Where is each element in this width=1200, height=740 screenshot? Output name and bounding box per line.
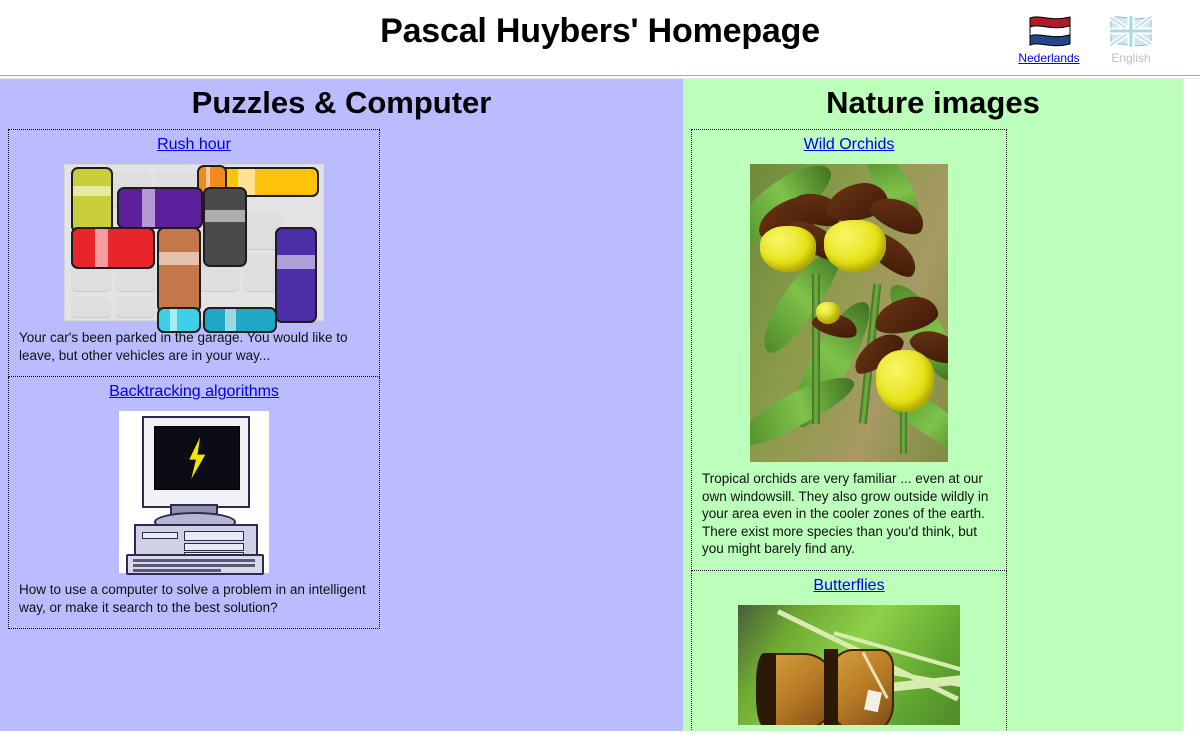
column-gutter (1183, 79, 1200, 731)
entry-backtracking-algorithms: Backtracking algorithms (9, 377, 380, 629)
computer-lightning-image (119, 411, 269, 573)
link-rush-hour[interactable]: Rush hour (157, 136, 231, 154)
uk-flag-icon (1108, 14, 1154, 47)
lightning-bolt-icon (184, 437, 210, 479)
column-nature-images: Nature images Wild Orchids (683, 79, 1183, 731)
yellow-ladys-slipper-orchid-photo (750, 164, 948, 462)
screen-shape (154, 426, 240, 490)
dutch-flag-icon (1026, 14, 1072, 47)
butterfly-on-leaf-photo (738, 605, 960, 725)
keyboard-shape (126, 554, 264, 575)
entry-butterflies: Butterflies (692, 570, 1007, 731)
column-title-left: Puzzles & Computer (0, 79, 683, 129)
link-backtracking-algorithms[interactable]: Backtracking algorithms (109, 383, 279, 401)
monitor-shape (142, 416, 250, 508)
link-wild-orchids[interactable]: Wild Orchids (804, 136, 895, 154)
description-backtracking-algorithms: How to use a computer to solve a problem… (19, 581, 369, 616)
description-rush-hour: Your car's been parked in the garage. Yo… (19, 329, 369, 364)
column-title-right: Nature images (683, 79, 1183, 129)
column-puzzles-computer: Puzzles & Computer Rush hour (0, 79, 683, 731)
entry-wild-orchids: Wild Orchids (692, 130, 1007, 571)
backtracking-thumbnail[interactable] (9, 411, 379, 573)
language-link-english[interactable]: English (1100, 14, 1162, 67)
link-butterflies[interactable]: Butterflies (813, 577, 884, 595)
language-switcher: Nederlands English (1018, 14, 1162, 67)
rush-hour-thumbnail[interactable] (9, 164, 379, 321)
butterflies-thumbnail[interactable] (692, 605, 1006, 725)
wild-orchids-thumbnail[interactable] (692, 164, 1006, 462)
description-wild-orchids: Tropical orchids are very familiar ... e… (702, 470, 996, 558)
page-header: Pascal Huybers' Homepage Nederlands Engl… (0, 0, 1200, 75)
language-label-english: English (1111, 52, 1150, 65)
entry-table-left: Rush hour (8, 129, 380, 629)
language-link-nederlands[interactable]: Nederlands (1018, 14, 1080, 67)
language-label-nederlands: Nederlands (1018, 52, 1079, 65)
rush-hour-puzzle-image (64, 164, 324, 321)
entry-table-right: Wild Orchids (691, 129, 1007, 731)
entry-rush-hour: Rush hour (9, 130, 380, 377)
content-columns: Puzzles & Computer Rush hour (0, 79, 1200, 731)
